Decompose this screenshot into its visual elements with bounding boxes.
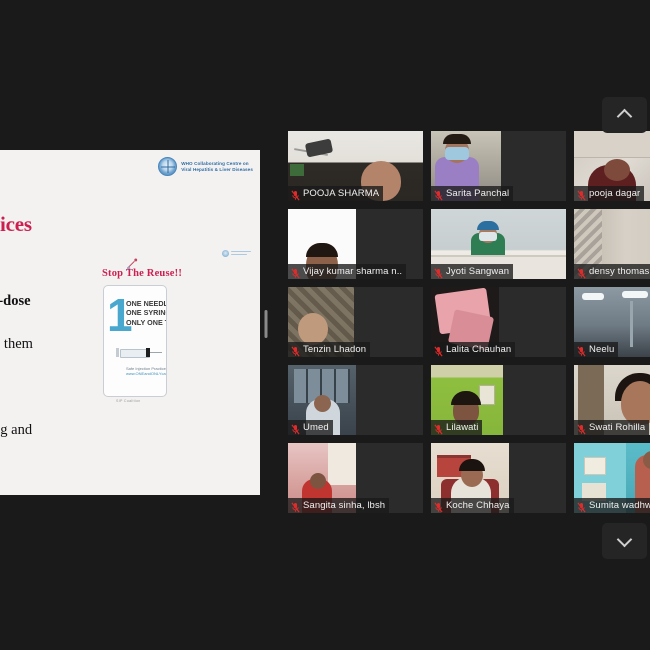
- mic-muted-icon: [291, 344, 300, 355]
- participant-name: Neelu: [589, 344, 614, 355]
- participant-name-bar: Sangita sinha, lbsh: [288, 498, 389, 513]
- participant-name-bar: Jyoti Sangwan: [431, 264, 513, 279]
- participant-name: Sangita sinha, lbsh: [303, 500, 385, 511]
- poster-slogan-line1: ONE NEEDLE,: [126, 299, 164, 308]
- slide-bullet: devices.: [0, 250, 134, 267]
- participant-tile[interactable]: Koche Chhaya: [431, 443, 566, 513]
- participant-tile[interactable]: Lilawati: [431, 365, 566, 435]
- mic-muted-icon: [577, 500, 586, 511]
- participant-tile[interactable]: Sangita sinha, lbsh: [288, 443, 423, 513]
- participant-tile[interactable]: Vijay kumar sharma n..: [288, 209, 423, 279]
- participant-name-bar: densy thomas: [574, 264, 650, 279]
- participant-name-bar: POOJA SHARMA: [288, 186, 383, 201]
- participant-name-bar: Tenzin Lhadon: [288, 342, 370, 357]
- mic-muted-icon: [434, 188, 443, 199]
- poster-slogan: ONE NEEDLE, ONE SYRINGE, ONLY ONE TIME.: [126, 299, 164, 327]
- participant-name-bar: Koche Chhaya: [431, 498, 514, 513]
- participant-name: Vijay kumar sharma n..: [303, 266, 402, 277]
- mic-muted-icon: [434, 500, 443, 511]
- participant-tile[interactable]: Swati Rohilla: [574, 365, 650, 435]
- mic-muted-icon: [577, 422, 586, 433]
- participant-name-bar: pooja dagar: [574, 186, 644, 201]
- mic-muted-icon: [291, 188, 300, 199]
- participant-name-bar: Umed: [288, 420, 333, 435]
- participant-tile[interactable]: Tenzin Lhadon: [288, 287, 423, 357]
- presentation-slide: WHO Collaborating Centre onViral Hepatit…: [0, 150, 260, 495]
- previous-page-button[interactable]: [602, 97, 647, 133]
- participant-tile[interactable]: POOJA SHARMA: [288, 131, 423, 201]
- mic-muted-icon: [577, 344, 586, 355]
- poster-url-block: Safe Injection Practices Coalition www.O…: [126, 366, 166, 377]
- mic-muted-icon: [434, 266, 443, 277]
- slide-bullet: preparing and: [0, 422, 134, 439]
- video-conference-window: WHO Collaborating Centre onViral Hepatit…: [0, 0, 650, 650]
- mic-muted-icon: [577, 188, 586, 199]
- poster-slogan-line2: ONE SYRINGE,: [126, 308, 164, 317]
- participant-name: Sumita wadhw: [589, 500, 650, 511]
- pane-splitter[interactable]: [262, 150, 270, 495]
- participant-tile[interactable]: Lalita Chauhan: [431, 287, 566, 357]
- participant-tile[interactable]: pooja dagar: [574, 131, 650, 201]
- mic-muted-icon: [291, 500, 300, 511]
- participant-tile[interactable]: Sarita Panchal: [431, 131, 566, 201]
- poster-url-line2: www.ONEandONLYcampaign.org: [126, 371, 166, 376]
- participant-name: Sarita Panchal: [446, 188, 509, 199]
- next-page-button[interactable]: [602, 523, 647, 559]
- poster-slogan-line3: ONLY ONE TIME.: [126, 318, 164, 327]
- who-collaborating-centre-logo: WHO Collaborating Centre onViral Hepatit…: [158, 157, 253, 176]
- participant-tile[interactable]: Jyoti Sangwan: [431, 209, 566, 279]
- who-logo-line2: Viral Hepatitis & Liver Diseases: [181, 167, 253, 172]
- participant-grid: POOJA SHARMASarita Panchalpooja dagarVij…: [288, 131, 650, 531]
- syringe-illustration-icon: [112, 348, 162, 357]
- mic-muted-icon: [434, 344, 443, 355]
- who-logo-line1: WHO Collaborating Centre on: [181, 161, 249, 166]
- participant-name: Tenzin Lhadon: [303, 344, 366, 355]
- participant-tile[interactable]: Neelu: [574, 287, 650, 357]
- participant-name: pooja dagar: [589, 188, 640, 199]
- secondary-logo-lines: [231, 251, 251, 256]
- splitter-drag-handle[interactable]: [265, 310, 268, 338]
- who-logo-text: WHO Collaborating Centre onViral Hepatit…: [181, 161, 253, 173]
- participant-name-bar: Sarita Panchal: [431, 186, 513, 201]
- who-emblem-icon: [158, 157, 177, 176]
- participant-name-bar: Lilawati: [431, 420, 482, 435]
- participant-name: Lalita Chauhan: [446, 344, 511, 355]
- participant-name: densy thomas: [589, 266, 649, 277]
- participant-name: Koche Chhaya: [446, 500, 510, 511]
- slide-title: Practices: [0, 212, 32, 237]
- participant-name: Swati Rohilla: [589, 422, 645, 433]
- participant-name-bar: Lalita Chauhan: [431, 342, 515, 357]
- poster-caption: SIP Coalition: [116, 399, 141, 403]
- participant-tile[interactable]: Umed: [288, 365, 423, 435]
- chevron-down-icon: [618, 534, 632, 548]
- mic-muted-icon: [577, 266, 586, 277]
- secondary-logo-icon: [222, 250, 229, 257]
- participant-name: Jyoti Sangwan: [446, 266, 509, 277]
- secondary-logo-badge: [222, 250, 251, 257]
- participant-name-bar: Swati Rohilla: [574, 420, 649, 435]
- participant-tile[interactable]: Sumita wadhw: [574, 443, 650, 513]
- participant-tile[interactable]: densy thomas: [574, 209, 650, 279]
- participant-name: Lilawati: [446, 422, 478, 433]
- participant-name: POOJA SHARMA: [303, 188, 379, 199]
- mic-muted-icon: [291, 266, 300, 277]
- chevron-up-icon: [618, 108, 632, 122]
- participant-name-bar: Vijay kumar sharma n..: [288, 264, 406, 279]
- poster-headline: Stop The Reuse!!: [102, 268, 182, 279]
- participant-name-bar: Neelu: [574, 342, 618, 357]
- mic-muted-icon: [434, 422, 443, 433]
- one-and-only-campaign-poster: 1 ONE NEEDLE, ONE SYRINGE, ONLY ONE TIME…: [103, 285, 167, 397]
- participant-name-bar: Sumita wadhw: [574, 498, 650, 513]
- shared-screen-pane[interactable]: WHO Collaborating Centre onViral Hepatit…: [0, 150, 260, 495]
- participant-name: Umed: [303, 422, 329, 433]
- mic-muted-icon: [291, 422, 300, 433]
